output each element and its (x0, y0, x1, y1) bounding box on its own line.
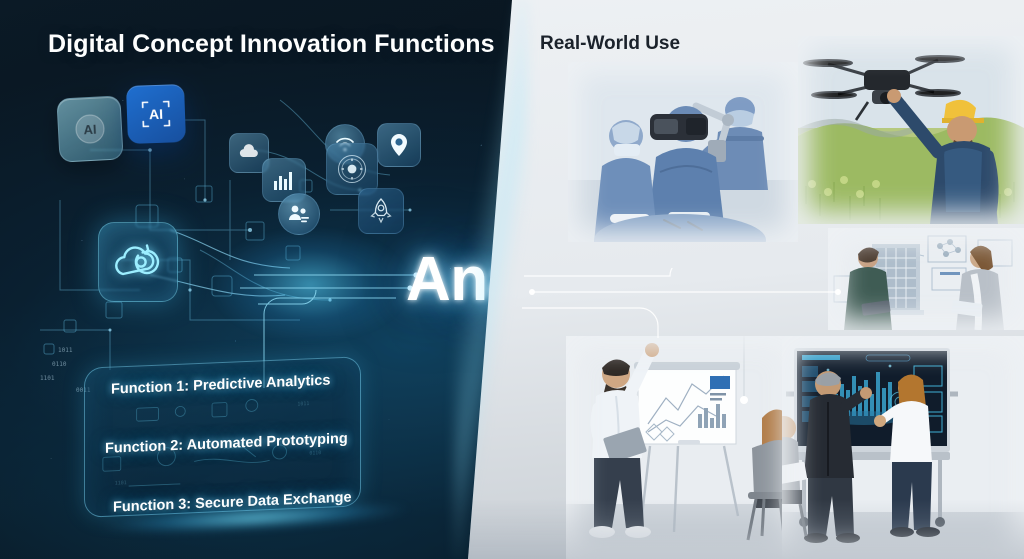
location-pin-icon (385, 131, 413, 159)
ai-scan-icon: AI (135, 93, 176, 134)
functions-list: Function 1: Predictive Analytics Functio… (85, 357, 360, 517)
cloud-sync-icon (107, 231, 169, 293)
drone-illustration (798, 36, 1024, 224)
left-panel-title: Digital Concept Innovation Functions (48, 30, 495, 59)
gear-shield-icon (334, 151, 370, 187)
floor-shading (468, 499, 1024, 559)
svg-text:1101: 1101 (40, 375, 55, 382)
ai-scan-card[interactable]: AI (126, 84, 186, 144)
svg-text:AI: AI (149, 106, 164, 122)
right-panel-title: Real-World Use (540, 33, 680, 55)
bar-chart-icon (270, 166, 298, 194)
svg-text:AI: AI (83, 122, 97, 138)
surgery-illustration (568, 62, 798, 242)
cloud-sync-card[interactable] (98, 222, 178, 302)
bim-illustration (828, 228, 1024, 330)
rocket-badge-card[interactable] (358, 188, 404, 234)
photo-surgery-ar (568, 62, 798, 242)
photo-bim-architecture (828, 228, 1024, 330)
ai-circle-icon: AI (70, 109, 110, 149)
rocket-icon (364, 194, 398, 228)
functions-panel[interactable]: 10110110 1101 Function 1: Predictive Ana… (84, 356, 361, 518)
photo-agriculture-drone (798, 36, 1024, 224)
svg-text:0110: 0110 (52, 361, 67, 368)
users-group-icon (285, 200, 313, 228)
function-item-2[interactable]: Function 2: Automated Prototyping (105, 431, 344, 457)
right-connector-lines (520, 268, 850, 338)
cloud-icon (236, 140, 262, 166)
location-pin-card[interactable] (377, 123, 421, 167)
users-group-card[interactable] (278, 193, 320, 235)
svg-text:1011: 1011 (58, 347, 73, 354)
function-item-1[interactable]: Function 1: Predictive Analytics (111, 372, 344, 398)
infographic-canvas: 10110110 11010011 Digital Concept Innova… (0, 0, 1024, 559)
ai-chip-ghost-card[interactable]: AI (56, 95, 123, 162)
